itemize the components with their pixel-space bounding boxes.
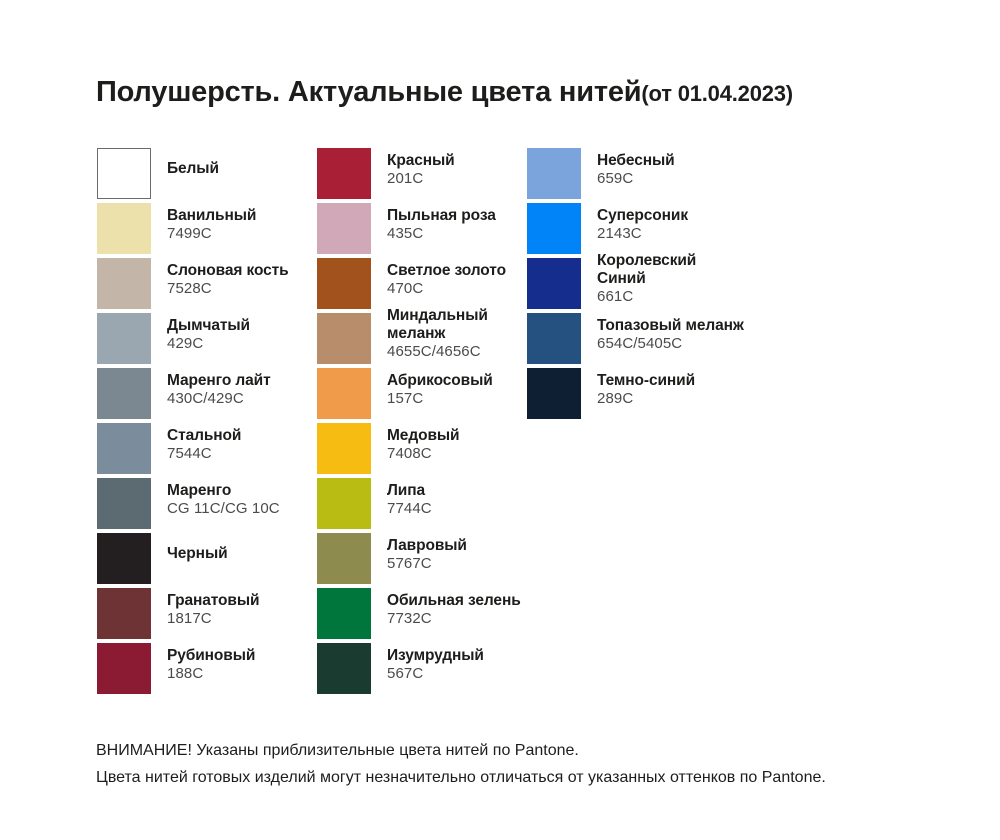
swatch-labels: Королевский Синий661C (597, 252, 837, 305)
color-swatch (97, 313, 151, 364)
swatch-labels: Лавровый5767C (387, 537, 627, 572)
swatch-name: Топазовый меланж (597, 317, 837, 335)
swatch-row: Светлое золото470C (317, 258, 522, 313)
swatch-name: Лавровый (387, 537, 627, 555)
swatch-row: Рубиновый188C (97, 643, 312, 698)
swatch-labels: Суперсоник2143C (597, 207, 837, 242)
swatch-labels: Изумрудный567C (387, 647, 627, 682)
swatch-row: Обильная зелень7732C (317, 588, 522, 643)
swatch-row: Черный (97, 533, 312, 588)
swatch-name: Медовый (387, 427, 627, 445)
swatch-row: Белый (97, 148, 312, 203)
color-swatch (317, 423, 371, 474)
swatch-column-1: БелыйВанильный7499CСлоновая кость7528CДы… (97, 148, 312, 698)
page-title-main: Полушерсть. Актуальные цвета нитей (96, 76, 641, 108)
swatch-row: МаренгоCG 11C/CG 10C (97, 478, 312, 533)
swatch-row: Маренго лайт430C/429C (97, 368, 312, 423)
swatch-column-2: Красный201CПыльная роза435CСветлое золот… (317, 148, 522, 698)
color-swatch (317, 643, 371, 694)
swatch-pantone-code: 5767C (387, 555, 627, 572)
swatch-row: Изумрудный567C (317, 643, 522, 698)
color-swatch (97, 148, 151, 199)
swatch-name: Обильная зелень (387, 592, 627, 610)
swatch-labels: Темно-синий289C (597, 372, 837, 407)
swatch-name: Миндальный меланж (387, 307, 537, 343)
swatch-pantone-code: 567C (387, 665, 627, 682)
swatch-column-3: Небесный659CСуперсоник2143CКоролевский С… (527, 148, 827, 423)
color-swatch (317, 203, 371, 254)
swatch-row: Ванильный7499C (97, 203, 312, 258)
swatch-pantone-code: 654C/5405C (597, 335, 837, 352)
footer-line-1: ВНИМАНИЕ! Указаны приблизительные цвета … (96, 737, 976, 764)
swatch-row: Миндальный меланж4655C/4656C (317, 313, 522, 368)
swatch-row: Дымчатый429C (97, 313, 312, 368)
page-title-sub: (от 01.04.2023) (641, 81, 793, 106)
swatch-labels: Небесный659C (597, 152, 837, 187)
color-swatch (97, 258, 151, 309)
color-swatch (97, 423, 151, 474)
swatch-name: Небесный (597, 152, 837, 170)
swatch-labels: Липа7744C (387, 482, 627, 517)
color-swatch (317, 313, 371, 364)
swatch-row: Королевский Синий661C (527, 258, 827, 313)
color-swatch (317, 478, 371, 529)
color-swatch (97, 368, 151, 419)
color-swatch (97, 203, 151, 254)
swatch-labels: Медовый7408C (387, 427, 627, 462)
swatch-row: Липа7744C (317, 478, 522, 533)
color-swatch (97, 643, 151, 694)
swatch-name: Суперсоник (597, 207, 837, 225)
swatch-labels: Топазовый меланж654C/5405C (597, 317, 837, 352)
color-swatch (527, 258, 581, 309)
color-swatch (317, 148, 371, 199)
swatch-pantone-code: 7408C (387, 445, 627, 462)
color-swatch (527, 203, 581, 254)
color-swatch (527, 313, 581, 364)
swatch-row: Небесный659C (527, 148, 827, 203)
swatch-name: Изумрудный (387, 647, 627, 665)
swatch-row: Лавровый5767C (317, 533, 522, 588)
color-swatch (317, 258, 371, 309)
swatch-pantone-code: 661C (597, 288, 837, 305)
color-chart-page: Полушерсть. Актуальные цвета нитей(от 01… (0, 0, 1000, 840)
swatch-pantone-code: 2143C (597, 225, 837, 242)
swatch-labels: Обильная зелень7732C (387, 592, 627, 627)
color-swatch (97, 478, 151, 529)
swatch-row: Топазовый меланж654C/5405C (527, 313, 827, 368)
color-swatch (317, 588, 371, 639)
swatch-row: Красный201C (317, 148, 522, 203)
color-swatch (97, 588, 151, 639)
footer-disclaimer: ВНИМАНИЕ! Указаны приблизительные цвета … (96, 737, 976, 791)
color-swatch (527, 148, 581, 199)
swatch-row: Суперсоник2143C (527, 203, 827, 258)
swatch-row: Абрикосовый157C (317, 368, 522, 423)
swatch-name: Темно-синий (597, 372, 837, 390)
swatch-row: Медовый7408C (317, 423, 522, 478)
swatch-row: Темно-синий289C (527, 368, 827, 423)
swatch-name: Липа (387, 482, 627, 500)
swatch-row: Слоновая кость7528C (97, 258, 312, 313)
swatch-row: Гранатовый1817C (97, 588, 312, 643)
swatch-row: Пыльная роза435C (317, 203, 522, 258)
swatch-name: Королевский Синий (597, 252, 747, 288)
color-swatch (317, 368, 371, 419)
swatch-pantone-code: 7744C (387, 500, 627, 517)
page-title: Полушерсть. Актуальные цвета нитей(от 01… (96, 76, 956, 109)
swatch-pantone-code: 289C (597, 390, 837, 407)
color-swatch (317, 533, 371, 584)
swatch-pantone-code: 7732C (387, 610, 627, 627)
color-swatch (97, 533, 151, 584)
swatch-row: Стальной7544C (97, 423, 312, 478)
color-swatch (527, 368, 581, 419)
swatch-pantone-code: 659C (597, 170, 837, 187)
footer-line-2: Цвета нитей готовых изделий могут незнач… (96, 764, 976, 791)
